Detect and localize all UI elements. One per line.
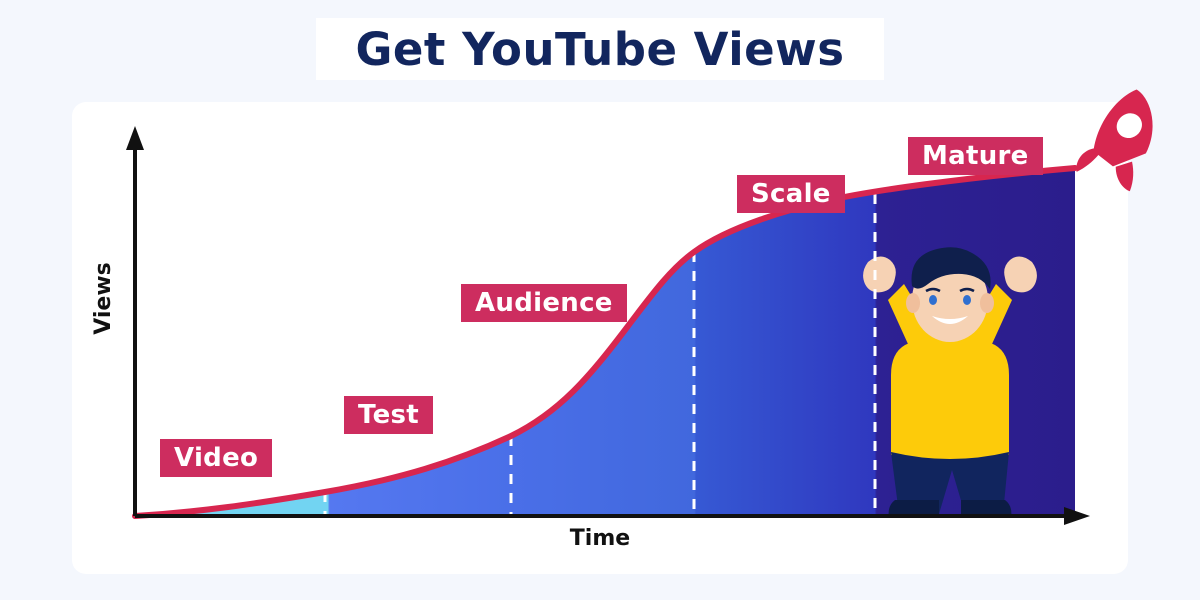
up-arrow-icon: [126, 126, 144, 150]
stage-badge-test[interactable]: Test: [344, 396, 433, 434]
rocket-icon: [1058, 87, 1184, 210]
stage-badge-scale[interactable]: Scale: [737, 175, 845, 213]
x-axis-label: Time: [520, 526, 680, 551]
stage-badge-mature[interactable]: Mature: [908, 137, 1043, 175]
y-axis-label-text: Views: [91, 262, 116, 335]
right-arrow-icon: [1064, 507, 1090, 525]
stage-badge-video[interactable]: Video: [160, 439, 272, 477]
y-axis-label: Views: [89, 243, 117, 353]
stage-badge-audience[interactable]: Audience: [461, 284, 627, 322]
